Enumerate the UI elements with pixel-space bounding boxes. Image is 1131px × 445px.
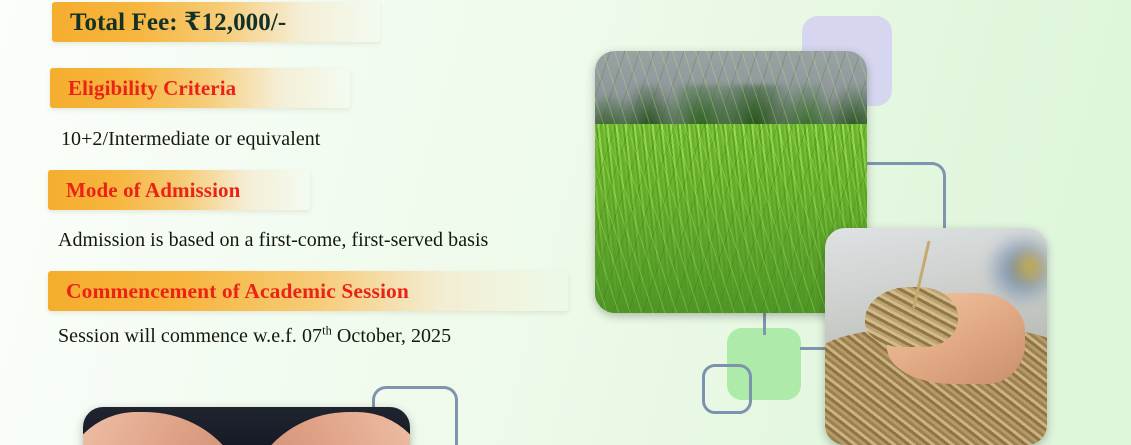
fodder-handful xyxy=(865,287,958,348)
body-commencement-of-academic-session: Session will commence w.e.f. 07th Octobe… xyxy=(58,325,451,348)
photo-hands-holding-rice-content xyxy=(83,407,410,445)
heading-total-fee: Total Fee: ₹12,000/- xyxy=(70,7,286,37)
body-commencement-ordinal-suffix: th xyxy=(322,323,332,337)
photo-fodder-pellets-content xyxy=(825,228,1047,445)
highlight-bar-total-fee: Total Fee: ₹12,000/- xyxy=(52,2,380,42)
fodder-bokeh-yellow xyxy=(1007,245,1047,288)
body-eligibility-criteria: 10+2/Intermediate or equivalent xyxy=(61,128,320,151)
highlight-bar-mode-of-admission: Mode of Admission xyxy=(48,170,310,210)
heading-mode-of-admission: Mode of Admission xyxy=(66,178,240,203)
connector-stub-vertical-icon xyxy=(763,313,766,335)
highlight-bar-commencement-of-academic-session: Commencement of Academic Session xyxy=(48,271,568,311)
body-commencement-suffix: October, 2025 xyxy=(332,325,451,347)
photo-hands-holding-rice xyxy=(83,407,410,445)
highlight-bar-eligibility-criteria: Eligibility Criteria xyxy=(50,68,350,108)
heading-eligibility-criteria: Eligibility Criteria xyxy=(68,76,236,101)
photo-fodder-pellets xyxy=(825,228,1047,445)
heading-commencement-of-academic-session: Commencement of Academic Session xyxy=(66,279,409,304)
slide-canvas: Total Fee: ₹12,000/- Eligibility Criteri… xyxy=(0,0,1131,445)
body-mode-of-admission: Admission is based on a first-come, firs… xyxy=(58,229,488,252)
outline-square-decoration xyxy=(702,364,752,414)
text-column: Total Fee: ₹12,000/- Eligibility Criteri… xyxy=(0,0,580,445)
body-commencement-prefix: Session will commence w.e.f. 07 xyxy=(58,325,322,347)
